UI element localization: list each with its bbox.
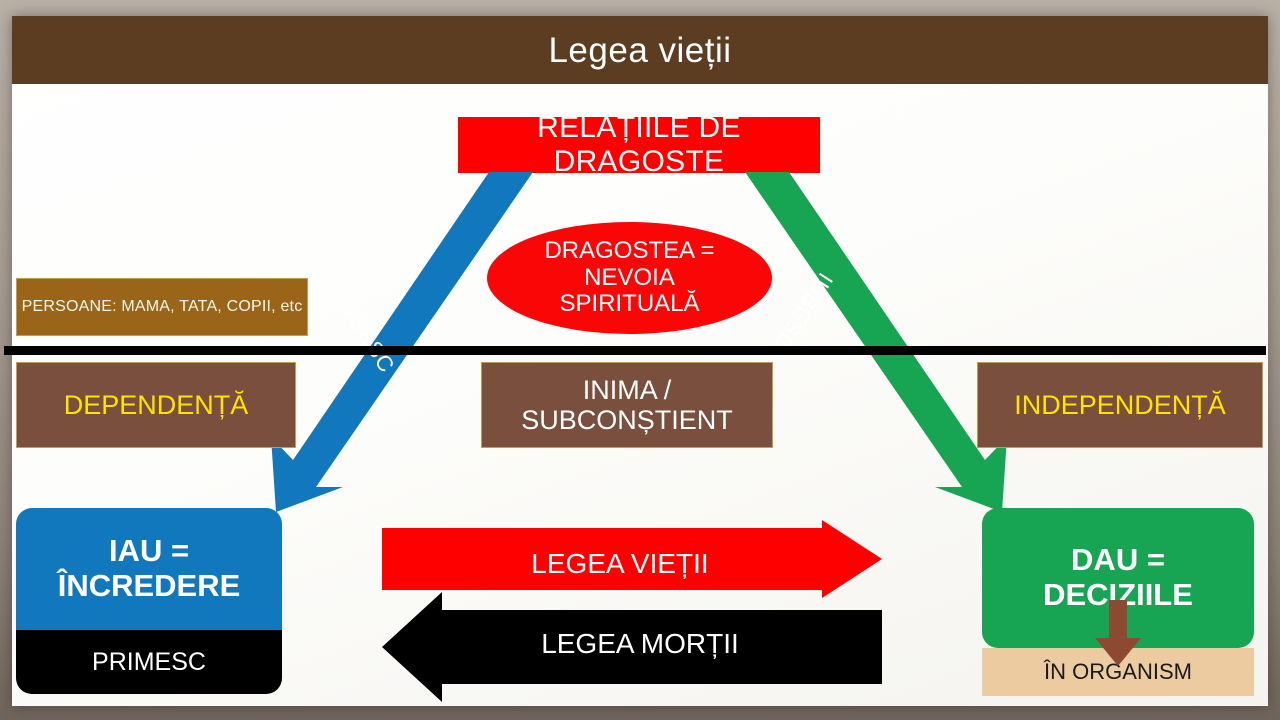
persoane-label: PERSOANE: MAMA, TATA, COPII, etc xyxy=(16,278,308,336)
ellipse-line-2: NEVOIA xyxy=(584,265,675,292)
relationships-banner: RELAȚIILE DE DRAGOSTE xyxy=(458,117,820,173)
page-title: Legea vieții xyxy=(548,33,731,68)
love-definition-ellipse: DRAGOSTEA = NEVOIA SPIRITUALĂ xyxy=(487,222,772,334)
iau-line-1: IAU = xyxy=(109,534,189,569)
iau-line-2: ÎNCREDERE xyxy=(58,569,241,604)
inima-line-2: SUBCONȘTIENT xyxy=(521,405,733,435)
inima-subconstient-box: INIMA / SUBCONȘTIENT xyxy=(481,362,773,448)
ellipse-line-1: DRAGOSTEA = xyxy=(544,238,714,265)
legea-mortii-label: LEGEA MORȚII xyxy=(420,628,860,660)
down-arrow-icon xyxy=(1094,600,1142,666)
dau-line-1: DAU = xyxy=(1071,543,1165,578)
ellipse-line-3: SPIRITUALĂ xyxy=(559,291,699,318)
slide-header: Legea vieții xyxy=(12,16,1268,84)
inima-line-1: INIMA / xyxy=(583,375,672,405)
horizontal-divider-line xyxy=(4,346,1266,355)
dependenta-box: DEPENDENȚĂ xyxy=(16,362,296,448)
independenta-box: INDEPENDENȚĂ xyxy=(977,362,1263,448)
slide-canvas: Legea vieții RELAȚIILE DE DRAGOSTE IUBES… xyxy=(0,0,1280,720)
primesc-footer: PRIMESC xyxy=(16,630,282,694)
iau-incredere-card: IAU = ÎNCREDERE xyxy=(16,508,282,630)
legea-vietii-label: LEGEA VIEȚII xyxy=(400,548,840,580)
